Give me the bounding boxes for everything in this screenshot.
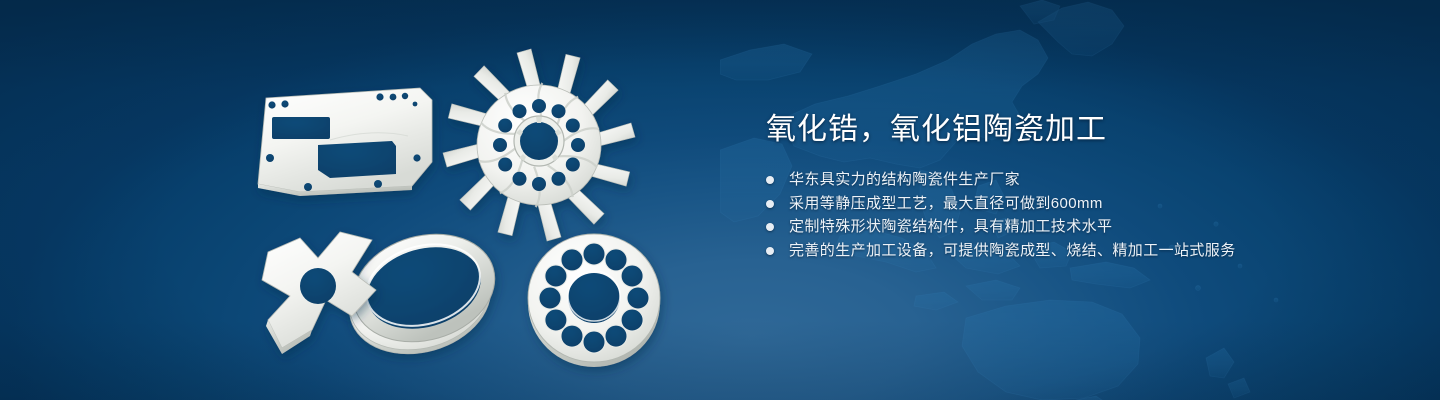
list-item: 华东具实力的结构陶瓷件生产厂家 — [766, 168, 1386, 192]
feature-list: 华东具实力的结构陶瓷件生产厂家 采用等静压成型工艺，最大直径可做到600mm 定… — [766, 168, 1386, 262]
ceramic-cross-part — [262, 232, 376, 354]
list-item: 定制特殊形状陶瓷结构件，具有精加工技术水平 — [766, 215, 1386, 239]
banner-headline: 氧化锆，氧化铝陶瓷加工 — [766, 110, 1386, 150]
ceramic-bladed-impeller — [443, 49, 635, 241]
hero-banner: 氧化锆，氧化铝陶瓷加工 华东具实力的结构陶瓷件生产厂家 采用等静压成型工艺，最大… — [0, 0, 1440, 400]
bullet-dot-icon — [766, 200, 774, 208]
ceramic-valve-plate — [528, 234, 660, 367]
ceramic-machined-plate — [258, 88, 432, 196]
bullet-dot-icon — [766, 223, 774, 231]
banner-copy: 氧化锆，氧化铝陶瓷加工 华东具实力的结构陶瓷件生产厂家 采用等静压成型工艺，最大… — [766, 110, 1386, 262]
feature-text: 华东具实力的结构陶瓷件生产厂家 — [789, 171, 1020, 188]
bullet-dot-icon — [766, 176, 774, 184]
feature-text: 采用等静压成型工艺，最大直径可做到600mm — [789, 195, 1103, 212]
bullet-dot-icon — [766, 247, 774, 255]
list-item: 采用等静压成型工艺，最大直径可做到600mm — [766, 192, 1386, 216]
product-photo-collage — [0, 0, 720, 400]
feature-text: 完善的生产加工设备，可提供陶瓷成型、烧结、精加工一站式服务 — [789, 242, 1236, 259]
feature-text: 定制特殊形状陶瓷结构件，具有精加工技术水平 — [789, 218, 1112, 235]
list-item: 完善的生产加工设备，可提供陶瓷成型、烧结、精加工一站式服务 — [766, 239, 1386, 263]
